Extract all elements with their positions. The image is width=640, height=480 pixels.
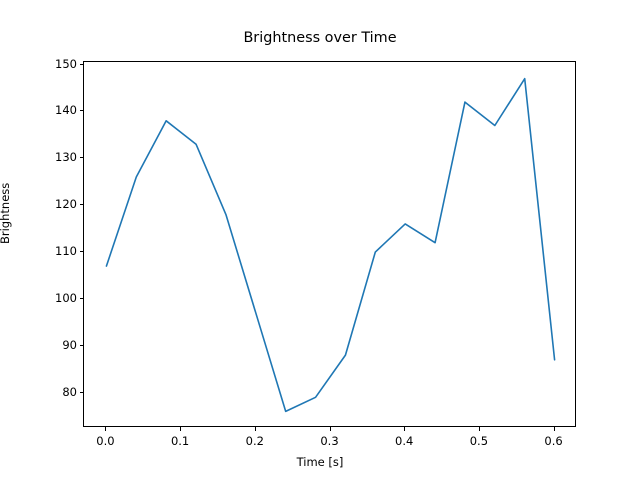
x-tick-label: 0.2 [246,434,264,448]
x-tick-mark [180,427,181,431]
x-tick-label: 0.0 [96,434,114,448]
y-tick-mark [80,251,84,252]
y-tick-label: 90 [33,338,77,352]
y-tick-mark [80,157,84,158]
y-tick-mark [80,110,84,111]
y-tick-mark [80,345,84,346]
y-tick-label: 130 [33,150,77,164]
y-tick-label: 100 [33,291,77,305]
y-axis-label: Brightness [0,183,12,244]
x-tick-label: 0.1 [171,434,189,448]
line-series-svg [84,62,577,428]
x-tick-label: 0.3 [320,434,338,448]
y-tick-label: 110 [33,244,77,258]
figure-canvas: Brightness over Time Brightness Time [s]… [0,0,640,480]
x-tick-mark [105,427,106,431]
y-tick-label: 140 [33,103,77,117]
y-tick-mark [80,392,84,393]
y-tick-mark [80,298,84,299]
x-tick-mark [330,427,331,431]
x-tick-mark [554,427,555,431]
x-tick-mark [479,427,480,431]
y-tick-mark [80,204,84,205]
plot-area [83,61,576,427]
x-tick-mark [255,427,256,431]
y-tick-mark [80,64,84,65]
y-tick-label: 80 [33,385,77,399]
x-tick-label: 0.4 [395,434,413,448]
x-tick-label: 0.5 [470,434,488,448]
x-tick-label: 0.6 [544,434,562,448]
y-tick-label: 150 [33,57,77,71]
brightness-line [106,79,554,412]
y-tick-label: 120 [33,197,77,211]
x-axis-label: Time [s] [0,455,640,469]
x-tick-mark [404,427,405,431]
chart-title: Brightness over Time [0,30,640,46]
